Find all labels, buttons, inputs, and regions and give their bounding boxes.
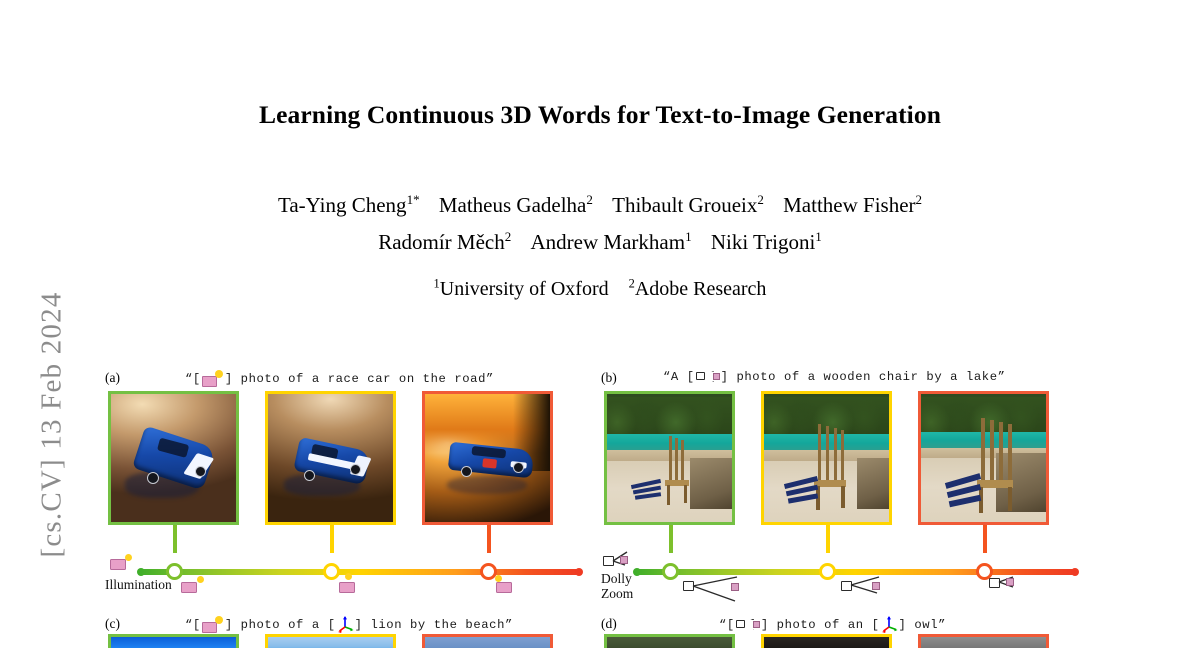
panel-label: (b) [601, 370, 617, 386]
illumination-icon [202, 370, 224, 387]
image-row [105, 391, 601, 525]
author-affil-sup: 1 [815, 229, 822, 244]
author-affil-sup: 2 [916, 192, 923, 207]
illumination-icon [339, 577, 361, 593]
generated-image[interactable] [422, 634, 553, 648]
dolly-zoom-icon [696, 370, 720, 384]
affiliations: 1University of Oxford 2Adobe Research [0, 276, 1200, 301]
caption-text: “[ [185, 618, 201, 632]
illumination-icon [202, 616, 224, 633]
generated-image[interactable] [918, 634, 1049, 648]
generated-image[interactable] [422, 391, 553, 525]
caption-text: ] photo of an [ [761, 618, 880, 632]
author: Matheus Gadelha2 [439, 193, 593, 217]
panel-caption: “[ ] photo of an [ ] owl” [719, 616, 946, 633]
node-stem [669, 525, 673, 553]
illumination-icon [110, 554, 132, 570]
figure-panel-b: (b) “A [ ] photo of a wooden chair by a … [601, 366, 1097, 648]
dolly-zoom-icon [683, 577, 743, 601]
axis-node[interactable] [662, 563, 679, 580]
caption-text: ] photo of a wooden chair by a lake” [721, 370, 1006, 384]
image-row [105, 634, 601, 648]
axis-node[interactable] [323, 563, 340, 580]
figure-panel-d: (d) “[ ] photo of an [ [601, 612, 1097, 648]
axis-node[interactable] [819, 563, 836, 580]
illumination-icon [496, 577, 518, 593]
author-line-1: Ta-Ying Cheng1* Matheus Gadelha2 Thibaul… [0, 192, 1200, 218]
figure-panel-c: (c) “[ ] photo of a [ [105, 612, 601, 648]
caption-text: ] photo of a [ [225, 618, 336, 632]
author-affil-sup: 2 [757, 192, 764, 207]
caption-text: ] lion by the beach” [355, 618, 513, 632]
caption-text: “A [ [663, 370, 695, 384]
panel-caption: “A [ ] photo of a wooden chair by a lake… [663, 370, 1006, 384]
affiliation: 1University of Oxford [434, 278, 609, 300]
panel-label: (a) [105, 370, 120, 386]
panel-label: (d) [601, 616, 617, 632]
axis-end-cap [575, 568, 583, 576]
generated-image[interactable] [604, 391, 735, 525]
axis-gradient-track[interactable] [139, 569, 579, 575]
image-row [601, 391, 1097, 525]
caption-text: ] owl” [899, 618, 946, 632]
dolly-zoom-icon [841, 577, 885, 597]
author: Matthew Fisher2 [783, 193, 922, 217]
page-title: Learning Continuous 3D Words for Text-to… [0, 100, 1200, 130]
xyz-axes-icon [337, 616, 354, 633]
caption-text: “[ [719, 618, 735, 632]
axis-label: Illumination [105, 577, 165, 592]
dolly-zoom-icon [736, 618, 760, 632]
axis-gradient-track[interactable] [635, 569, 1075, 575]
figure-panel-a: (a) “[ ] photo of a race car on the road… [105, 366, 601, 648]
node-stem [983, 525, 987, 553]
caption-text: “[ [185, 372, 201, 386]
axis-end-cap [1071, 568, 1079, 576]
author-line-2: Radomír Měch2 Andrew Markham1 Niki Trigo… [0, 229, 1200, 255]
author: Thibault Groueix2 [612, 193, 764, 217]
author-affil-sup: 1* [407, 192, 420, 207]
author-affil-sup: 1 [685, 229, 692, 244]
affiliation: 2Adobe Research [629, 278, 767, 300]
node-stem [487, 525, 491, 553]
generated-image[interactable] [761, 634, 892, 648]
paper-page: [cs.CV] 13 Feb 2024 Learning Continuous … [0, 0, 1200, 648]
generated-image[interactable] [761, 391, 892, 525]
author-affil-sup: 2 [586, 192, 593, 207]
panel-caption: “[ ] photo of a [ ] lion by the beach [185, 616, 513, 633]
author: Ta-Ying Cheng1* [278, 193, 420, 217]
dolly-zoom-icon [603, 552, 631, 570]
dolly-zoom-axis[interactable]: Dolly Zoom [601, 551, 1097, 611]
generated-image[interactable] [108, 634, 239, 648]
generated-image[interactable] [265, 391, 396, 525]
axis-label: Dolly Zoom [601, 571, 661, 601]
generated-image[interactable] [265, 634, 396, 648]
illumination-axis[interactable]: Illumination [105, 551, 601, 611]
generated-image[interactable] [604, 634, 735, 648]
panel-caption: “[ ] photo of a race car on the road” [185, 370, 494, 387]
author: Radomír Měch2 [378, 230, 511, 254]
generated-image[interactable] [918, 391, 1049, 525]
author: Andrew Markham1 [531, 230, 692, 254]
image-row [601, 634, 1097, 648]
illumination-icon [181, 577, 203, 593]
node-stem [826, 525, 830, 553]
author: Niki Trigoni1 [711, 230, 822, 254]
xyz-axes-icon [881, 616, 898, 633]
author-affil-sup: 2 [505, 229, 512, 244]
teaser-figure: (a) “[ ] photo of a race car on the road… [0, 366, 1200, 648]
node-stem [330, 525, 334, 553]
dolly-zoom-icon [989, 575, 1021, 593]
caption-text: ] photo of a race car on the road” [225, 372, 494, 386]
panel-label: (c) [105, 616, 120, 632]
generated-image[interactable] [108, 391, 239, 525]
node-stem [173, 525, 177, 553]
